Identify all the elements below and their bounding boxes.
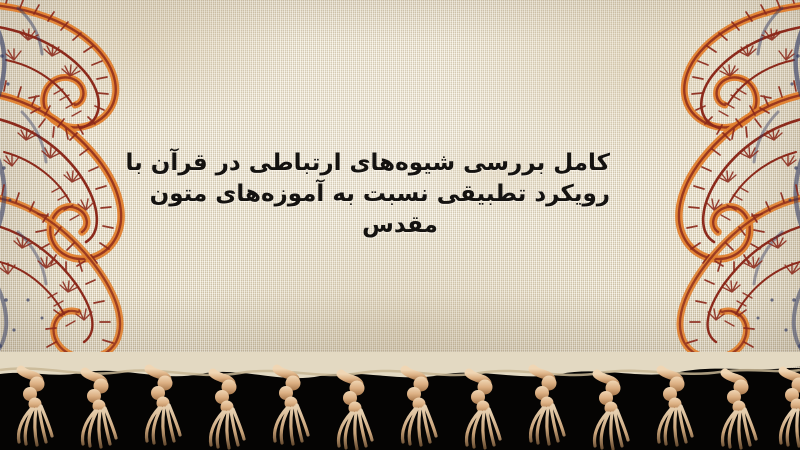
title-card-canvas: کامل بررسی شیوه‌های ارتباطی در قرآن با ر… — [0, 0, 800, 450]
title-line-1: کامل بررسی شیوه‌های ارتباطی در قرآن با — [190, 148, 610, 179]
page-title: کامل بررسی شیوه‌های ارتباطی در قرآن با ر… — [190, 148, 610, 241]
tassel-group — [19, 369, 800, 449]
title-line-2: رویکرد تطبیقی نسبت به آموزه‌های متون — [190, 179, 610, 210]
title-line-3: مقدس — [190, 210, 610, 241]
knotted-tassel-fringe — [0, 352, 800, 450]
